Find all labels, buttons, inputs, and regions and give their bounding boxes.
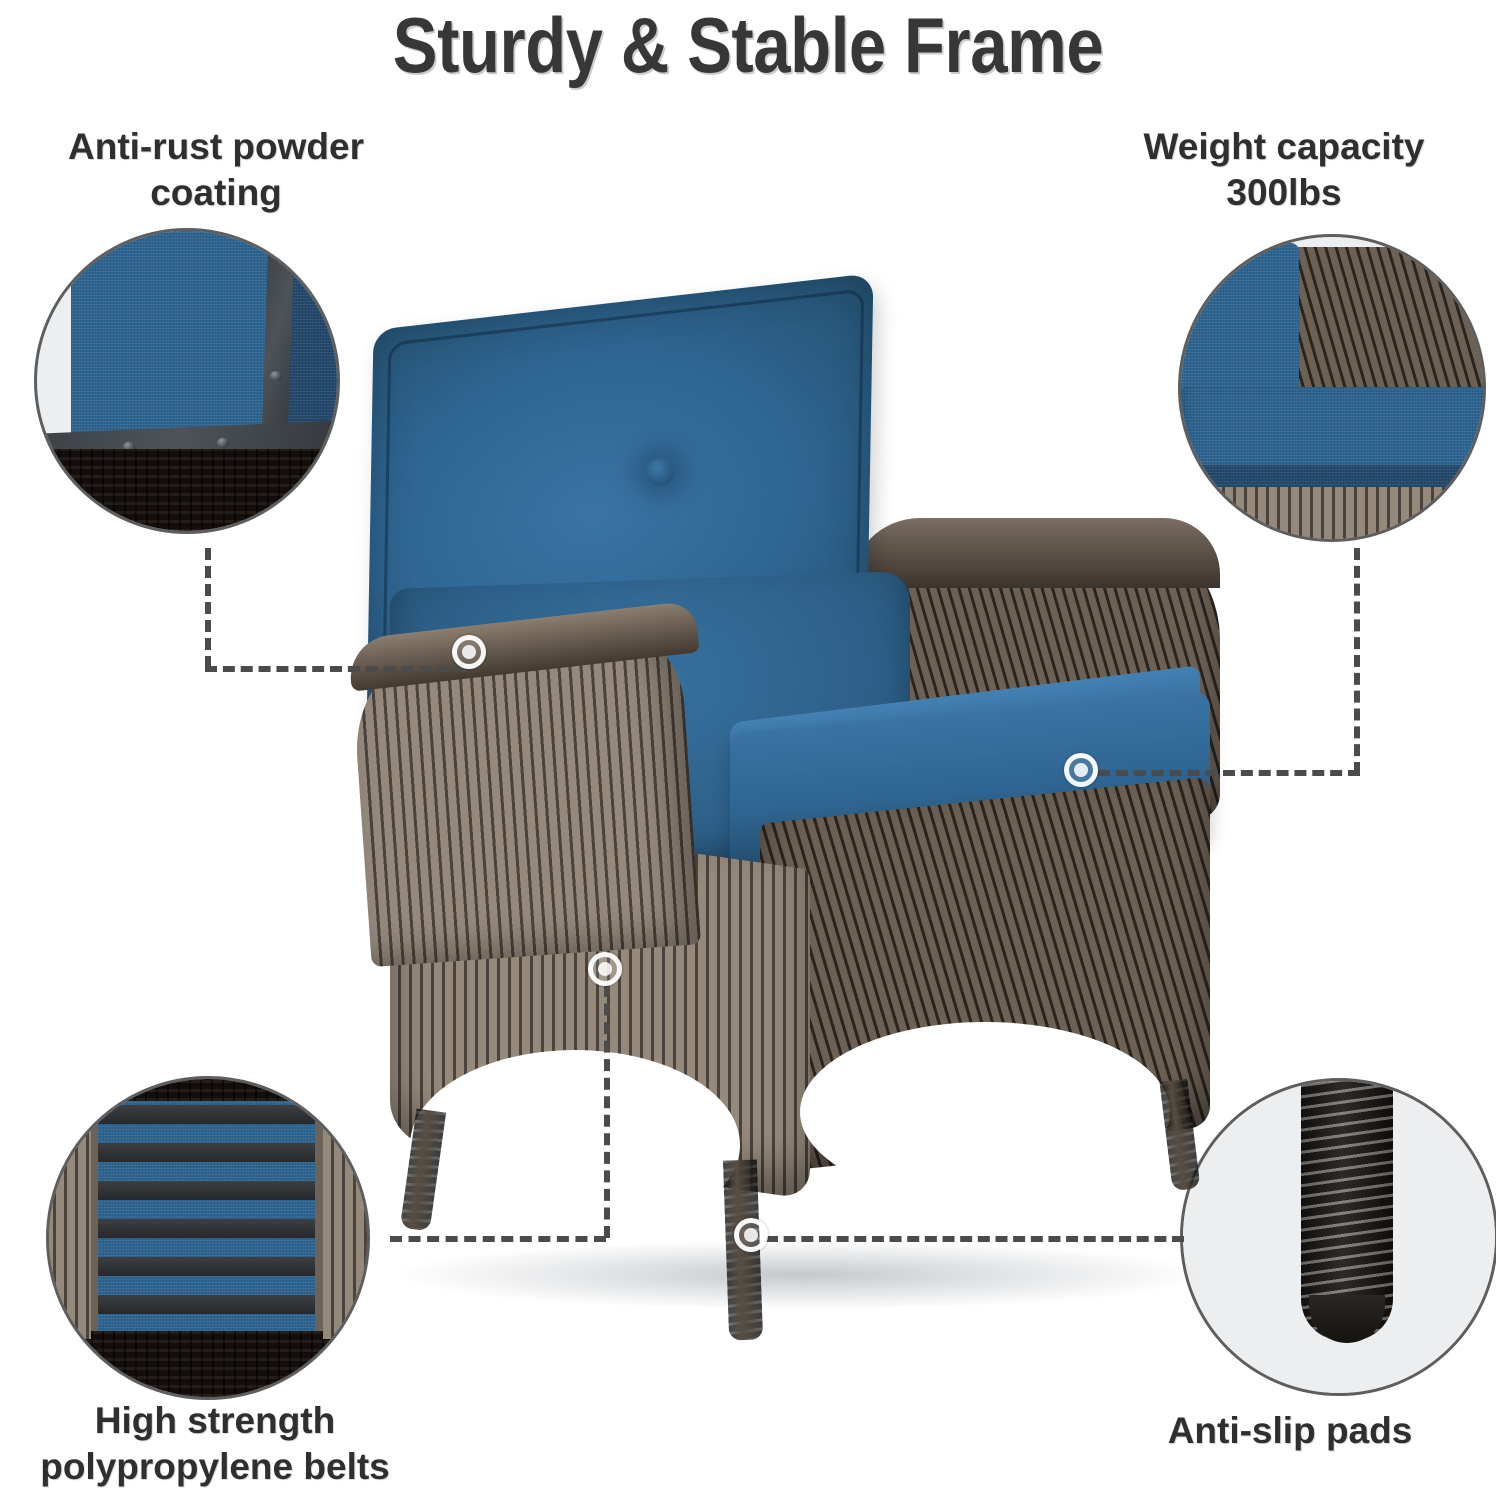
callout-label-anti-rust: Anti-rust powder coating [6,124,426,216]
side-apron-cutout [800,1022,1170,1202]
callout-label-polypropylene-belts: High strength polypropylene belts [0,1398,430,1490]
polypropylene-belt [97,1105,317,1124]
chair-right-armrest-top [850,518,1220,588]
polypropylene-belt [97,1143,317,1162]
leader-line-anti-rust-vertical [205,548,211,668]
inset-wicker-weave [34,449,340,534]
frame-rivet [217,437,229,448]
marker-seat-cushion [1064,753,1098,787]
inset-wicker-backrest [1269,247,1486,407]
product-image-wicker-armchair [330,280,1230,1290]
polypropylene-belt-group [97,1101,317,1333]
inset-photo-anti-rust [34,228,340,534]
front-apron-cutout [410,1050,740,1240]
inset-wicker-left-edge [46,1109,91,1339]
polypropylene-belt [97,1257,317,1276]
marker-leg-foot [734,1218,768,1252]
polypropylene-belt [97,1181,317,1200]
marker-armrest [452,635,486,669]
inset-cushion-fabric [71,228,287,455]
frame-rivet [270,371,282,381]
inset-wicker-bottom-edge [49,1331,369,1397]
inset-photo-polypropylene-belts [46,1076,370,1400]
leader-line-weight-capacity-vertical [1354,548,1360,774]
page-title: Sturdy & Stable Frame [105,2,1392,88]
leader-line-belts-horizontal [390,1236,606,1242]
callout-label-weight-capacity: Weight capacity 300lbs [1074,124,1494,216]
floor-shadow [390,1240,1210,1310]
leader-line-weight-capacity-horizontal [1098,770,1360,776]
polypropylene-belt [97,1295,317,1314]
inset-wicker-top-edge [59,1079,359,1101]
leader-line-anti-slip-horizontal [766,1236,1184,1242]
marker-front-apron [588,952,622,986]
polypropylene-belt [97,1219,317,1238]
cushion-tuft-button [646,458,674,486]
callout-label-anti-slip-pads: Anti-slip pads [1090,1408,1490,1454]
leader-line-anti-rust-horizontal [205,666,467,672]
leader-line-belts-vertical [604,985,610,1238]
